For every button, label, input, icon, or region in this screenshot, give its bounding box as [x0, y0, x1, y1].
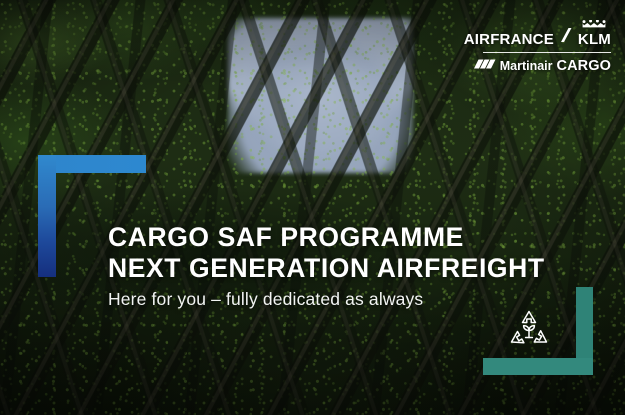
airfrance-wordmark: AIRFRANCE — [464, 32, 554, 48]
klm-block: KLM — [578, 16, 611, 48]
bracket-blue-vertical — [38, 155, 56, 277]
martinair-bars-icon — [474, 57, 496, 75]
recycle-leaf-icon — [505, 306, 553, 352]
logo-row-martinair-cargo: Martinair CARGO — [474, 57, 611, 75]
crown-icon — [581, 16, 607, 32]
headline-block: CARGO SAF PROGRAMME NEXT GENERATION AIRF… — [108, 222, 578, 310]
cargo-saf-banner: CARGO SAF PROGRAMME NEXT GENERATION AIRF… — [0, 0, 625, 415]
cargo-wordmark: CARGO — [557, 59, 611, 74]
bracket-teal-horizontal — [483, 358, 593, 375]
headline-line-1: CARGO SAF PROGRAMME — [108, 222, 578, 253]
logo-divider — [483, 52, 611, 53]
klm-wordmark: KLM — [578, 32, 611, 48]
airfrance-klm-separator-icon — [560, 27, 572, 48]
logo-row-airfrance-klm: AIRFRANCE KLM — [464, 16, 611, 48]
headline-subtitle: Here for you – fully dedicated as always — [108, 289, 578, 310]
headline-line-2: NEXT GENERATION AIRFREIGHT — [108, 253, 578, 284]
brand-logo-lockup: AIRFRANCE KLM — [464, 16, 611, 75]
martinair-wordmark: Martinair — [500, 59, 553, 73]
